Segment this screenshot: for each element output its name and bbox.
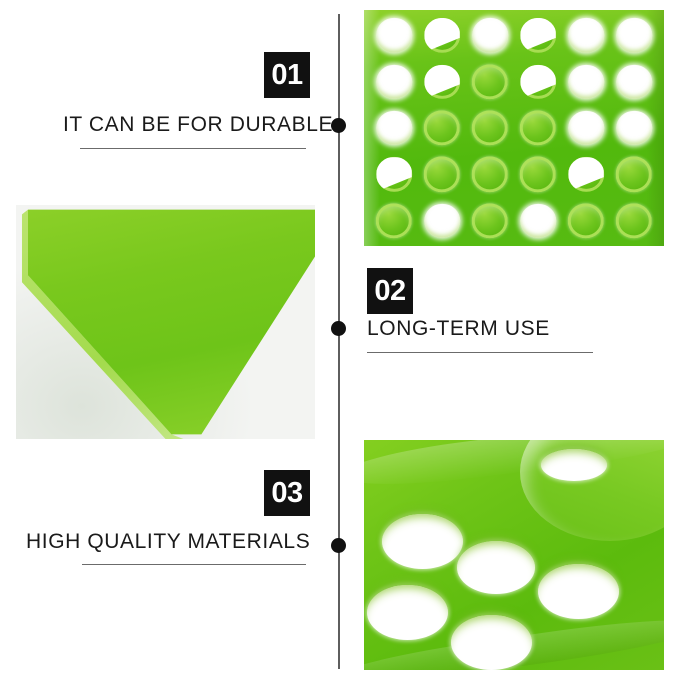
rack-hole-grid bbox=[364, 10, 664, 246]
rack-hole bbox=[562, 12, 610, 58]
rack-hole bbox=[370, 12, 418, 58]
closeup-hole bbox=[382, 514, 463, 569]
rack-hole bbox=[418, 198, 466, 244]
feature-number-badge-01: 01 bbox=[264, 52, 310, 98]
closeup-body bbox=[364, 440, 664, 670]
rack-hole bbox=[466, 58, 514, 104]
timeline-dot-3 bbox=[331, 538, 346, 553]
timeline-dot-1 bbox=[331, 118, 346, 133]
closeup-hole bbox=[367, 585, 448, 640]
plastic-sheet-scene bbox=[16, 205, 315, 439]
rack-hole bbox=[466, 198, 514, 244]
rack-hole bbox=[610, 105, 658, 151]
timeline-vertical-line bbox=[338, 14, 340, 669]
feature-underline-01 bbox=[80, 148, 306, 149]
rack-hole bbox=[562, 58, 610, 104]
rack-hole bbox=[370, 105, 418, 151]
rack-hole bbox=[562, 105, 610, 151]
rack-hole bbox=[466, 151, 514, 197]
photo-green-plastic-corner bbox=[16, 205, 315, 439]
rack-hole bbox=[466, 12, 514, 58]
feature-underline-02 bbox=[367, 352, 593, 353]
rack-hole bbox=[514, 105, 562, 151]
rack-hole bbox=[514, 198, 562, 244]
rack-hole bbox=[514, 151, 562, 197]
rack-hole bbox=[514, 12, 562, 58]
feature-title-03: HIGH QUALITY MATERIALS bbox=[26, 530, 310, 554]
timeline-dot-2 bbox=[331, 321, 346, 336]
rack-hole bbox=[610, 58, 658, 104]
photo-green-test-tube-rack-grid bbox=[364, 10, 664, 246]
rack-hole bbox=[562, 151, 610, 197]
closeup-hole bbox=[457, 541, 535, 594]
feature-title-01: IT CAN BE FOR DURABLE bbox=[63, 113, 333, 137]
rack-hole bbox=[370, 151, 418, 197]
rack-hole bbox=[562, 198, 610, 244]
rack-hole bbox=[418, 58, 466, 104]
closeup-hole bbox=[538, 564, 619, 619]
rack-hole bbox=[610, 198, 658, 244]
rack-hole bbox=[610, 12, 658, 58]
photo-green-rack-holes-closeup bbox=[364, 440, 664, 670]
rack-hole bbox=[466, 105, 514, 151]
rack-hole bbox=[370, 198, 418, 244]
feature-number-badge-03: 03 bbox=[264, 470, 310, 516]
rack-hole bbox=[418, 105, 466, 151]
rack-body bbox=[364, 10, 664, 246]
closeup-hole bbox=[451, 615, 532, 670]
feature-number-badge-02: 02 bbox=[367, 268, 413, 314]
rack-hole bbox=[514, 58, 562, 104]
rack-hole bbox=[418, 12, 466, 58]
rack-hole bbox=[370, 58, 418, 104]
rack-hole bbox=[418, 151, 466, 197]
product-feature-poster: 01 IT CAN BE FOR DURABLE 02 LONG-TERM US… bbox=[0, 0, 679, 679]
feature-title-02: LONG-TERM USE bbox=[367, 317, 550, 341]
feature-underline-03 bbox=[82, 564, 306, 565]
rack-hole bbox=[610, 151, 658, 197]
